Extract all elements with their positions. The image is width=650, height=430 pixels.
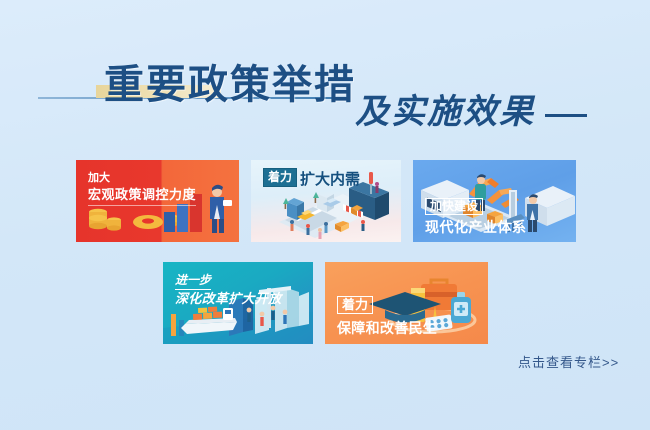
card-domestic-demand-subheading: 扩大内需 <box>300 168 360 189</box>
card-reform-opening-subheading: 深化改革扩大开放 <box>175 288 281 307</box>
card-livelihood-heading: 着力 <box>337 296 373 314</box>
card-row-bottom: 进一步 深化改革扩大开放 <box>163 262 488 344</box>
page-title-line-2: 及实施效果 <box>355 84 535 133</box>
card-reform-opening-heading: 进一步 <box>175 271 211 288</box>
card-domestic-demand-heading: 着力 <box>263 168 297 187</box>
card-macro-policy-subheading: 宏观政策调控力度 <box>88 184 196 203</box>
title-block: 重要政策举措 及实施效果 <box>0 52 650 152</box>
card-row-top: 加大 宏观政策调控力度 <box>76 160 576 242</box>
card-livelihood-subheading: 保障和改善民生 <box>337 318 437 338</box>
card-domestic-demand[interactable]: 着力 扩大内需 <box>251 160 401 242</box>
card-macro-policy-heading: 加大 <box>88 169 110 185</box>
banner-stage: 重要政策举措 及实施效果 <box>0 0 650 430</box>
card-reform-opening[interactable]: 进一步 深化改革扩大开放 <box>163 262 313 344</box>
title-trailing-dash <box>545 114 587 117</box>
view-column-link[interactable]: 点击查看专栏>> <box>518 352 619 371</box>
card-macro-policy[interactable]: 加大 宏观政策调控力度 <box>76 160 239 242</box>
page-title-line-1: 重要政策举措 <box>104 52 356 110</box>
card-modern-industry[interactable]: 加快建设 现代化产业体系 <box>413 160 576 242</box>
card-livelihood[interactable]: 着力 保障和改善民生 <box>325 262 488 344</box>
card-modern-industry-subheading: 现代化产业体系 <box>425 217 527 237</box>
card-modern-industry-heading: 加快建设 <box>425 198 483 215</box>
